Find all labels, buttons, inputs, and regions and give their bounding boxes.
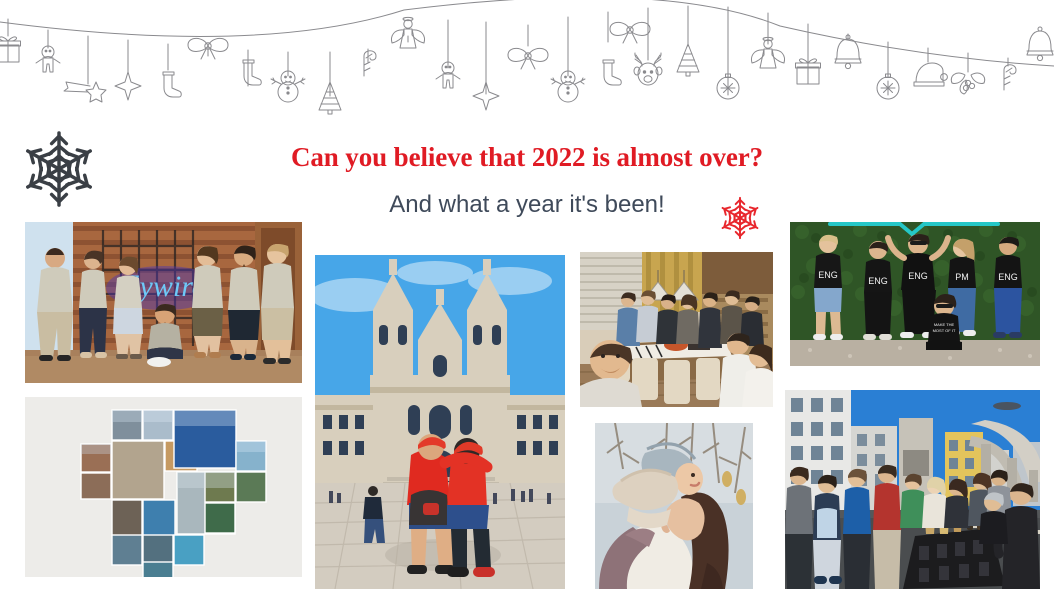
svg-text:MAKE THE: MAKE THE — [934, 322, 955, 327]
photo-eng-team: ENG ENG ENG — [790, 222, 1040, 366]
svg-text:ENG: ENG — [818, 270, 838, 280]
svg-text:ENG: ENG — [868, 276, 888, 286]
photo-team-flywire: flywire — [25, 222, 302, 383]
photo-heart-collage — [25, 397, 302, 577]
svg-text:PM: PM — [955, 272, 969, 282]
svg-text:MOST OF IT: MOST OF IT — [933, 328, 956, 333]
slide-canvas: Can you believe that 2022 is almost over… — [0, 0, 1054, 589]
photo-cathedral — [315, 255, 565, 589]
photo-dining-team — [580, 252, 773, 407]
photo-baby — [595, 423, 753, 589]
page-title: Can you believe that 2022 is almost over… — [0, 142, 1054, 173]
svg-text:ENG: ENG — [998, 272, 1018, 282]
photo-street-team — [785, 390, 1040, 589]
svg-text:ENG: ENG — [908, 271, 928, 281]
christmas-garland — [0, 0, 1054, 115]
page-subtitle: And what a year it's been! — [0, 191, 1054, 219]
